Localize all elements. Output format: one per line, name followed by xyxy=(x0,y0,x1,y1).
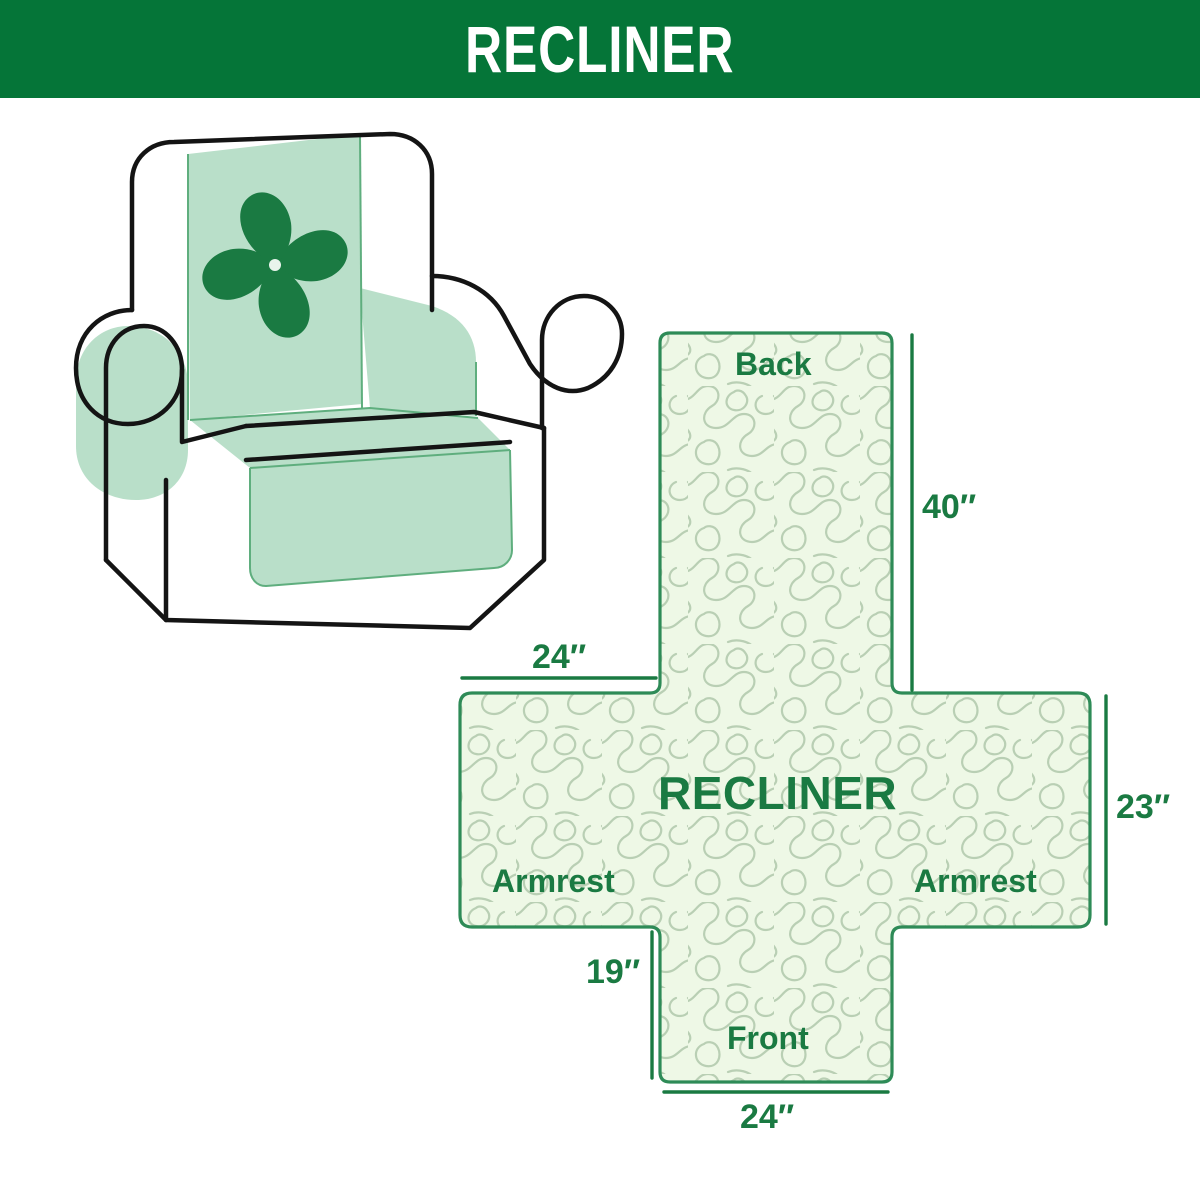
dimension-label-back-width: 24″ xyxy=(532,640,586,674)
panel-label-armrest-left: Armrest xyxy=(492,865,615,897)
page-title: RECLINER xyxy=(465,16,734,82)
header-banner: RECLINER xyxy=(0,0,1200,98)
dimension-label-seat-depth: 23″ xyxy=(1116,790,1170,824)
dimension-label-front-height: 19″ xyxy=(586,955,640,989)
panel-label-front: Front xyxy=(727,1022,809,1054)
cover-cross-shape xyxy=(460,333,1090,1082)
flat-pattern-diagram: Back RECLINER Armrest Armrest Front 40″ … xyxy=(430,300,1200,1150)
dimension-label-back-height: 40″ xyxy=(922,490,976,524)
panel-label-seat: RECLINER xyxy=(658,770,897,816)
panel-label-armrest-right: Armrest xyxy=(914,865,1037,897)
page-root: RECLINER xyxy=(0,0,1200,1200)
panel-label-back: Back xyxy=(735,348,812,380)
dimension-label-front-width: 24″ xyxy=(740,1100,794,1134)
